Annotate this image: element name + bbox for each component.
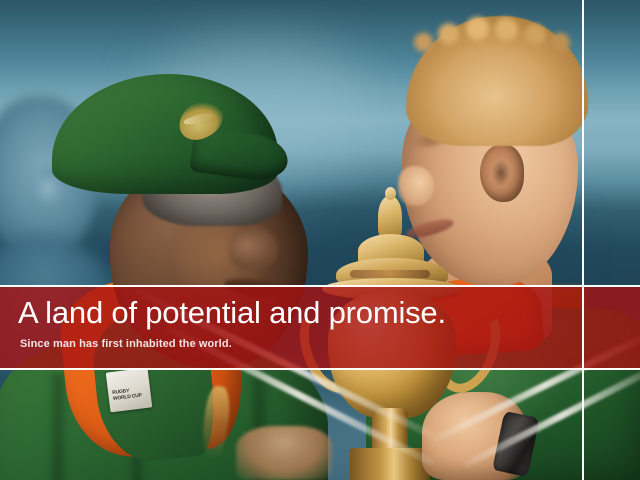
vertical-guide-line bbox=[582, 0, 584, 480]
slide-subtitle: Since man has first inhabited the world. bbox=[20, 337, 232, 351]
left-subject-hand bbox=[236, 426, 332, 480]
right-subject-ear bbox=[480, 144, 524, 202]
right-subject-hair-spikes bbox=[402, 10, 582, 56]
jersey-fold bbox=[48, 374, 68, 480]
horizontal-guide-line-bottom bbox=[0, 368, 640, 370]
left-subject-figure: RUGBY WORLD CUP bbox=[38, 74, 328, 480]
horizontal-guide-line-top bbox=[0, 285, 640, 287]
slide-title: A land of potential and promise. bbox=[18, 296, 446, 330]
presentation-slide: RUGBY WORLD CUP bbox=[0, 0, 640, 480]
slide-background-photo: RUGBY WORLD CUP bbox=[0, 0, 640, 480]
left-subject-nose bbox=[230, 226, 278, 270]
badge-line-2: WORLD CUP bbox=[113, 393, 147, 403]
rugby-world-cup-badge: RUGBY WORLD CUP bbox=[106, 368, 153, 413]
trophy-lid-band bbox=[350, 270, 430, 278]
